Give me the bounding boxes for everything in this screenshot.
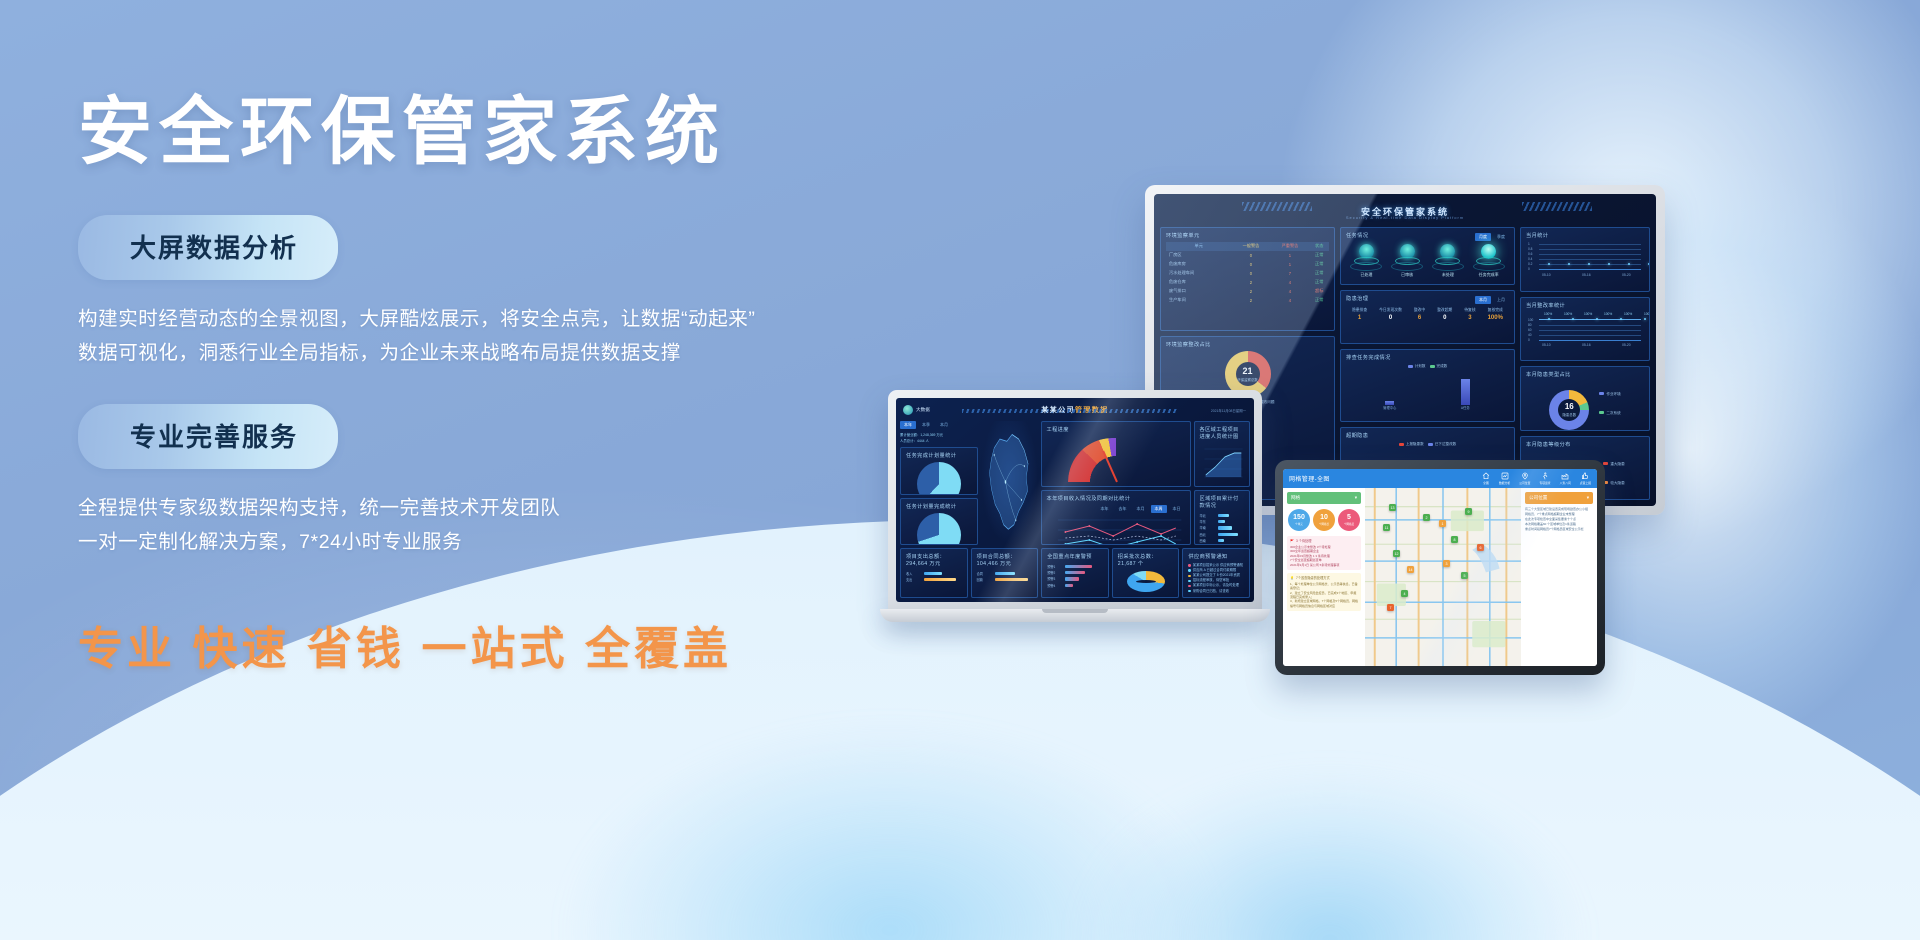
legend-label: 设备设施 <box>1606 430 1620 431</box>
legend-swatch <box>1428 443 1433 446</box>
cell-warn: 0 <box>1231 260 1270 269</box>
card-title: 工程进度 <box>1047 426 1069 433</box>
hazard-type-legend: 作业环境 二次系统 设备设施 <box>1599 381 1620 431</box>
laptop-col-right: 各区域工程项目进度人员统计图 <box>1194 421 1251 545</box>
card-title: 招采批次总数：21,687 个 <box>1118 553 1174 567</box>
bar-label: A任务 <box>1461 405 1470 410</box>
pie-chart <box>917 462 961 494</box>
legend-item: 已下达整改数 <box>1428 442 1457 447</box>
cell-severe: 1 <box>1270 251 1309 260</box>
donut-label: 环保监察总数 <box>1237 377 1257 382</box>
hbar-row: 预警4 <box>1047 582 1103 588</box>
tab-month[interactable]: 本月 <box>1133 505 1149 513</box>
card-progress-gauge: 工程进度 <box>1041 421 1191 487</box>
tab-this-month[interactable]: 本月 <box>1475 296 1491 304</box>
stat-value: 10 <box>1320 514 1328 521</box>
y-tick: 0 <box>1528 338 1530 342</box>
paragraph-2-line-2: 一对一定制化解决方案，7*24小时专业服务 <box>78 525 938 559</box>
tab-month[interactable]: 本月 <box>936 421 952 429</box>
card-title: 超期隐患 <box>1346 432 1509 439</box>
cell-status: 超标 <box>1309 287 1329 296</box>
toolbar-label: 全图 <box>1483 481 1489 485</box>
handling-note: 💡7个巡查隐患的处理方式 1、每个处理单位公示网格长、公示员等信息，已备案登记；… <box>1287 573 1361 611</box>
bulb-icon: 💡 <box>1290 576 1294 581</box>
donut-label: 隐患总数 <box>1563 412 1577 417</box>
legend-label: 二次系统 <box>1606 411 1620 415</box>
toolbar-label: 八查八问 <box>1560 481 1571 485</box>
x-tick: 05-20 <box>1622 273 1631 277</box>
legend-item: 上报隐患数 <box>1399 442 1424 447</box>
pending-note: 🚩3 个待处理 300企业公示未整改 3个待处理 300全年巡查超期企业 202… <box>1287 536 1361 570</box>
cell-severe: 4 <box>1270 296 1309 305</box>
map-pin[interactable]: 13 <box>1389 504 1396 511</box>
card-month-rate: 当月整改率统计 100% 100% 100% 100% 100% 100% 10… <box>1520 297 1650 362</box>
paragraph-2-line-1: 全程提供专家级数据架构支持，统一完善技术开发团队 <box>78 491 938 525</box>
cell-warn: 2 <box>1231 287 1270 296</box>
laptop-col-left: 本年 本季 本月 累计营业额：1,248,369 万元 人员总计：4444 人 … <box>900 421 978 545</box>
hbar-row: 支出 <box>906 576 962 582</box>
table-row: 危废仓库24正常 <box>1166 278 1329 287</box>
cell-severe: 1 <box>1270 260 1309 269</box>
card-title: 全国重点年度警预 <box>1047 553 1103 560</box>
map-pin[interactable]: 8 <box>1451 536 1458 543</box>
table-row: 危废库房01正常 <box>1166 260 1329 269</box>
card-title: 项目支出总额：294,664 万元 <box>906 553 962 567</box>
card-expense-total: 项目支出总额：294,664 万元 收入 支出 <box>900 548 968 598</box>
map-pin[interactable]: 11 <box>1383 524 1390 531</box>
th-unit: 单元 <box>1166 242 1231 251</box>
kpi-value: 0 <box>1437 315 1452 321</box>
laptop-tabs[interactable]: 本年 本季 本月 <box>900 421 978 429</box>
donut-value: 16 <box>1565 403 1574 411</box>
laptop-stats: 累计营业额：1,248,369 万元 人员总计：4444 人 <box>900 432 978 444</box>
bar-label: 管理中心 <box>1383 405 1396 410</box>
legend-item: 二次系统 <box>1599 401 1620 419</box>
point-label: 100% <box>1644 312 1650 316</box>
kpi: 隐患排查1 <box>1352 308 1367 321</box>
bar-plan <box>1461 379 1470 405</box>
card-task-plan-pie: 任务完成计划量统计 <box>900 447 978 494</box>
card-national-warning: 全国重点年度警预 预警1 预警2 预警3 预警4 <box>1041 548 1109 598</box>
card-title: 任务计划量完成统计 <box>906 503 972 510</box>
kpi-value: 100% <box>1488 315 1503 321</box>
plate-pending: 未处理 <box>1432 244 1464 278</box>
cell-name: 生产车间 <box>1166 296 1231 305</box>
point-label: 100% <box>1624 312 1632 316</box>
map-pin[interactable]: 7 <box>1387 604 1394 611</box>
dashboard-header: 安全环保管家系统 Security & Real-time Data Displ… <box>1160 200 1650 222</box>
kpi: 今日发现次数0 <box>1379 308 1402 321</box>
legend-label: 上报隐患数 <box>1406 442 1424 446</box>
kpi-value: 3 <box>1464 315 1475 321</box>
tab-week[interactable]: 本周 <box>1151 505 1167 513</box>
person-run-icon <box>1541 472 1549 480</box>
cell-severe: 7 <box>1270 269 1309 278</box>
location-icon <box>1521 472 1529 480</box>
info-line: 重点时间段网格员7个网格员区域安全公示栏 <box>1525 527 1593 532</box>
card-title: 各区域工程项目进度人员统计图 <box>1200 426 1245 440</box>
tab-quarter[interactable]: 本季 <box>918 421 934 429</box>
table-header-row: 单元 一般警告 严重警告 状态 <box>1166 242 1329 251</box>
note-line: 3、新增建立区域网格，7个网格及5个网格员，网格编号与网格员信息与网格区域对应 <box>1290 599 1358 608</box>
tab-lastyear[interactable]: 去年 <box>1115 505 1131 513</box>
stat-circle-units: 150 个单元 <box>1288 509 1310 531</box>
kpi: 复核完成100% <box>1488 308 1503 321</box>
kpi-label: 复核完成 <box>1488 308 1503 313</box>
tab-month[interactable]: 月度 <box>1475 233 1491 241</box>
legend-item: 设备设施 <box>1599 420 1620 431</box>
plate-label: 已处理 <box>1350 272 1382 278</box>
company-select[interactable]: 公司位置 ▾ <box>1525 492 1593 504</box>
completion-bar-chart: 管理中心 A任务 <box>1346 369 1509 405</box>
legend-label: 较大隐患 <box>1610 481 1624 485</box>
toolbar-factory[interactable]: 八查八问 <box>1560 472 1571 485</box>
table-row: 污水处理车间07正常 <box>1166 269 1329 278</box>
map-pin[interactable]: 4 <box>1401 590 1408 597</box>
legend-item: 重大隐患 <box>1603 452 1624 470</box>
note-line: 1、每个处理单位公示网格长、公示员等信息，已备案登记； <box>1290 582 1358 591</box>
point-label: 100% <box>1544 312 1552 316</box>
card-hazard-manage: 隐患治理 本月 上月 隐患排查1 今日发现次数0 整改中6 <box>1340 290 1515 344</box>
legend-label: 已下达整改数 <box>1435 442 1457 446</box>
laptop-lid: 大数据 某某公司管理数据 2021年11月08日星期一 本年 <box>888 390 1262 612</box>
map-pin[interactable]: 9 <box>1465 508 1472 515</box>
laptop-dashboard: 大数据 某某公司管理数据 2021年11月08日星期一 本年 <box>896 398 1254 602</box>
point-label: 100% <box>1564 312 1572 316</box>
banner-stage: 安全环保管家系统 大屏数据分析 构建实时经营动态的全景视图，大屏酷炫展示，将安全… <box>0 0 1920 940</box>
dashboard-subtitle: Security & Real-time Data Display Platfo… <box>1346 215 1464 220</box>
cell-status: 正常 <box>1309 251 1329 260</box>
stat-value: 150 <box>1293 514 1305 521</box>
cell-name: 危废库房 <box>1166 260 1231 269</box>
map-pin[interactable]: 3 <box>1443 560 1450 567</box>
flag-icon: 🚩 <box>1290 539 1294 544</box>
cell-status: 正常 <box>1309 260 1329 269</box>
badge-2-wrap: 专业完善服务 <box>78 404 938 469</box>
y-tick: 0.2 <box>1528 262 1532 266</box>
cell-severe: 4 <box>1270 287 1309 296</box>
cell-status: 正常 <box>1309 269 1329 278</box>
kpi-label: 隐患排查 <box>1352 308 1367 313</box>
plate-ring-outer <box>1350 262 1382 271</box>
toolbar-label: 数据分析 <box>1499 481 1510 485</box>
toolbar-location[interactable]: 公司位置 <box>1519 472 1530 485</box>
cell-warn: 2 <box>1231 296 1270 305</box>
card-title: 供应商预警通知 <box>1188 553 1244 560</box>
kpi-label: 今日发现次数 <box>1379 308 1402 313</box>
donut-center: 16 隐患总数 <box>1558 399 1580 421</box>
plate-processed: 已处理 <box>1350 244 1382 278</box>
note-line: 2021年9月1日 某公司 5条待处理事项 <box>1290 563 1358 567</box>
legend-item: 较大隐患 <box>1603 471 1624 489</box>
toolbar-label: 公司位置 <box>1519 481 1530 485</box>
overdue-legend: 上报隐患数 已下达整改数 <box>1346 442 1509 447</box>
month-stats-chart: 1 0.8 0.6 0.4 0.2 0 <box>1526 242 1644 276</box>
tablet-header: 网格管理-全图 全图 数据分析 <box>1283 469 1597 488</box>
cell-status: 正常 <box>1309 296 1329 305</box>
card-title: 当月整改率统计 <box>1526 302 1644 309</box>
select-value: 公司位置 <box>1529 495 1547 501</box>
cell-warn: 0 <box>1231 251 1270 260</box>
y-tick: 0.8 <box>1528 247 1532 251</box>
map-pin[interactable]: 12 <box>1393 550 1400 557</box>
factory-icon <box>1561 472 1569 480</box>
kpi: 整改中6 <box>1414 308 1425 321</box>
income-tabs[interactable]: 本年 去年 本月 本周 本日 <box>1047 505 1185 513</box>
table-row: 厂房区01正常 <box>1166 251 1329 260</box>
select-value: 网格 <box>1291 495 1300 501</box>
tablet-right-panel: 公司位置 ▾ 有三个大型区域已建设置完成现场勘查办公小组 网格员、7个重点网格超… <box>1521 488 1597 666</box>
card-area-payment: 区域项目累计付款情况 华北 华东 华南 西北 西南 东北 华中 <box>1194 490 1251 545</box>
stat-label: 个网格长 <box>1319 522 1329 526</box>
th-status: 状态 <box>1309 242 1329 251</box>
card-unit-table: 环境监察单元 单元 一般警告 严重警告 状态 厂房区01正常 <box>1160 227 1335 331</box>
laptop-notch <box>1042 609 1108 613</box>
donut-value: 21 <box>1242 367 1252 376</box>
toolbar-label: 点赞上报 <box>1580 481 1591 485</box>
legend-swatch <box>1430 365 1435 368</box>
y-tick: 40 <box>1528 333 1532 337</box>
card-title: 本年项目收入情况及同期对比统计 <box>1047 495 1131 502</box>
y-tick: 0.4 <box>1528 257 1532 261</box>
grid-map[interactable]: 13 2 11 1 9 8 6 12 14 3 5 4 7 <box>1365 488 1521 666</box>
page-title: 安全环保管家系统 <box>78 95 938 169</box>
badge-1-wrap: 大屏数据分析 <box>78 215 938 280</box>
gauge-arc <box>1068 438 1164 482</box>
payment-hbars: 华北 华东 华南 西北 西南 东北 华中 <box>1200 512 1245 545</box>
tab-year[interactable]: 本年 <box>900 421 916 429</box>
card-title: 本月隐患等级分布 <box>1526 441 1644 448</box>
x-tick: 05-10 <box>1542 273 1551 277</box>
note-title: 🚩3 个待处理 <box>1290 539 1358 544</box>
point-label: 100% <box>1584 312 1592 316</box>
right-info-lines: 有三个大型区域已建设置完成现场勘查办公小组 网格员、7个重点网格超期企业未整理 … <box>1525 507 1593 532</box>
cell-name: 废气排口 <box>1166 287 1231 296</box>
card-title: 环境监察单元 <box>1166 232 1329 239</box>
area-line-chart <box>1200 443 1245 487</box>
chart-icon <box>1501 472 1509 480</box>
card-area-progress: 各区域工程项目进度人员统计图 <box>1194 421 1251 487</box>
kpi: 待复核3 <box>1464 308 1475 321</box>
stat-label: 个单元 <box>1295 522 1303 526</box>
tasks-tabs[interactable]: 月度 季度 <box>1475 233 1509 241</box>
header-hatch-right <box>1522 202 1592 211</box>
table-row: 生产车间24正常 <box>1166 296 1329 305</box>
laptop-device: 大数据 某某公司管理数据 2021年11月08日星期一 本年 <box>880 390 1270 645</box>
card-task-complete-pie: 任务计划量完成统计 <box>900 498 978 545</box>
th-warn: 一般警告 <box>1231 242 1270 251</box>
cell-warn: 2 <box>1231 278 1270 287</box>
donut-center: 21 环保监察总数 <box>1236 362 1260 386</box>
kpi-value: 0 <box>1379 315 1402 321</box>
legend-item: 一般隐患 <box>1603 490 1624 501</box>
paragraph-2: 全程提供专家级数据架构支持，统一完善技术开发团队 一对一定制化解决方案，7*24… <box>78 491 938 559</box>
tablet-frame: 网格管理-全图 全图 数据分析 <box>1275 460 1605 675</box>
tab-day[interactable]: 本日 <box>1169 505 1185 513</box>
laptop-bottom-row: 项目支出总额：294,664 万元 收入 支出 项目合同总额：104,466 万… <box>900 548 1250 598</box>
card-hazard-type: 本月隐患类型占比 16 隐患总数 作业环 <box>1520 366 1650 431</box>
y-tick: 100 <box>1528 318 1533 322</box>
laptop-col-gauge: 工程进度 本年项目收入情况及同期对比统计 <box>1041 421 1191 545</box>
logo-label: 大数据 <box>916 407 930 413</box>
x-tick: 05-20 <box>1622 343 1631 347</box>
unit-table: 单元 一般警告 严重警告 状态 厂房区01正常 危废库房01正常 污水处理车间0… <box>1166 242 1329 305</box>
stat-value: 5 <box>1347 514 1351 521</box>
thumb-icon <box>1581 472 1589 480</box>
plate-ring-outer <box>1473 262 1505 271</box>
paragraph-1-line-1: 构建实时经营动态的全景视图，大屏酷炫展示，将安全点亮，让数据“动起来” <box>78 302 938 336</box>
toolbar-analysis[interactable]: 数据分析 <box>1499 472 1510 485</box>
tablet-screen: 网格管理-全图 全图 数据分析 <box>1283 469 1597 666</box>
card-title: 项目合同总额：104,466 万元 <box>977 553 1033 567</box>
cell-warn: 0 <box>1231 269 1270 278</box>
kpi: 整改超期0 <box>1437 308 1452 321</box>
x-tick: 05-16 <box>1582 343 1591 347</box>
legend-label: 完成数 <box>1437 364 1448 368</box>
card-title: 隐患治理 <box>1346 295 1368 302</box>
legend-label: 一般隐患 <box>1610 500 1624 501</box>
list-item: 采购合同已归档，请查收 <box>1188 589 1244 594</box>
map-pin[interactable]: 6 <box>1477 544 1484 551</box>
cell-status: 正常 <box>1309 278 1329 287</box>
legend-swatch <box>1399 443 1404 446</box>
y-tick: 1 <box>1528 242 1530 246</box>
device-mockups: 安全环保管家系统 Security & Real-time Data Displ… <box>880 150 1920 790</box>
chevron-down-icon: ▾ <box>1587 495 1589 501</box>
card-title: 本月隐患类型占比 <box>1526 371 1644 378</box>
stat-line: 人员总计：4444 人 <box>900 438 978 444</box>
map-pin[interactable]: 5 <box>1461 572 1468 579</box>
card-title: 环境监察整改占比 <box>1166 341 1329 348</box>
y-tick: 80 <box>1528 323 1532 327</box>
pie-chart <box>917 513 961 545</box>
hazard-tabs[interactable]: 本月 上月 <box>1475 296 1509 304</box>
chevron-down-icon: ▾ <box>1355 495 1357 501</box>
donut-chart <box>1127 571 1165 592</box>
cell-name: 污水处理车间 <box>1166 269 1231 278</box>
card-title: 排查任务完成情况 <box>1346 354 1509 361</box>
card-income-compare: 本年项目收入情况及同期对比统计 本年 去年 本月 本周 本日 <box>1041 490 1191 545</box>
plate-audited: 已审核 <box>1391 244 1423 278</box>
legend-label: 重大隐患 <box>1610 462 1624 466</box>
card-month-stats: 当月统计 1 0.8 0.6 0.4 0.2 0 <box>1520 227 1650 292</box>
map-pin[interactable]: 1 <box>1439 520 1446 527</box>
legend-item: 作业环境 <box>1599 382 1620 400</box>
stat-label: 个网格员 <box>1344 522 1354 526</box>
card-supplier-alerts: 供应商预警通知 某某项目招采公示 供应商预警通知 供应商 A 已超过合同付款期限… <box>1182 548 1250 598</box>
kpi-label: 整改超期 <box>1437 308 1452 313</box>
card-contract-total: 项目合同总额：104,466 万元 合同 回款 <box>971 548 1039 598</box>
hero-copy: 安全环保管家系统 大屏数据分析 构建实时经营动态的全景视图，大屏酷炫展示，将安全… <box>78 95 938 677</box>
tab-last-month[interactable]: 上月 <box>1493 296 1509 304</box>
grid-select[interactable]: 网格 ▾ <box>1287 492 1361 504</box>
tab-quarter[interactable]: 季度 <box>1493 233 1509 241</box>
income-line-chart <box>1047 514 1185 545</box>
plate-label: 未处理 <box>1432 272 1464 278</box>
tagline: 专业 快速 省钱 一站式 全覆盖 <box>78 612 938 677</box>
y-tick: 0 <box>1528 267 1530 271</box>
logo-icon <box>903 405 913 415</box>
map-pin[interactable]: 2 <box>1423 514 1430 521</box>
tasks-plates: 已处理 已审核 未处理 任务完成率 <box>1346 242 1509 278</box>
card-title: 任务情况 <box>1346 232 1368 239</box>
map-pin[interactable]: 14 <box>1407 566 1414 573</box>
laptop-header-date: 2021年11月08日星期一 <box>1211 408 1246 413</box>
card-title: 当月统计 <box>1526 232 1644 239</box>
card-title: 任务完成计划量统计 <box>906 452 972 459</box>
toolbar-label: 专项巡查 <box>1539 481 1550 485</box>
badge-professional-service: 专业完善服务 <box>78 404 338 469</box>
paragraph-1-line-2: 数据可视化，洞悉行业全局指标，为企业未来战略布局提供数据支撑 <box>78 336 938 370</box>
cell-severe: 4 <box>1270 278 1309 287</box>
header-hatch-left <box>1242 202 1312 211</box>
kpi-label: 待复核 <box>1464 308 1475 313</box>
hazard-kpis: 隐患排查1 今日发现次数0 整改中6 整改超期0 待复核3 复核完成100% <box>1346 308 1509 321</box>
toolbar-inspection[interactable]: 专项巡查 <box>1539 472 1550 485</box>
note-title: 💡7个巡查隐患的处理方式 <box>1290 576 1358 581</box>
legend-label: 计划数 <box>1415 364 1426 368</box>
stat-circles: 150 个单元 10 个网格长 5 个网格员 <box>1287 507 1361 533</box>
table-row: 废气排口24超标 <box>1166 287 1329 296</box>
tablet-body: 网格 ▾ 150 个单元 10 个网格长 <box>1283 488 1597 666</box>
plate-completion-rate: 任务完成率 <box>1473 244 1505 278</box>
badge-data-analysis: 大屏数据分析 <box>78 215 338 280</box>
hbar-row: 东北 <box>1200 544 1245 545</box>
toolbar-report[interactable]: 点赞上报 <box>1580 472 1591 485</box>
stat-circle-leaders: 10 个网格长 <box>1313 509 1335 531</box>
y-tick: 60 <box>1528 328 1532 332</box>
paragraph-1: 构建实时经营动态的全景视图，大屏酷炫展示，将安全点亮，让数据“动起来” 数据可视… <box>78 302 938 370</box>
hazard-level-legend: 重大隐患 较大隐患 一般隐患 低风险 <box>1603 451 1624 501</box>
card-task-completion: 排查任务完成情况 计划数 完成数 管理中心 <box>1340 349 1515 422</box>
stat-circle-members: 5 个网格员 <box>1338 509 1360 531</box>
card-tasks: 任务情况 月度 季度 已处理 已审核 未处理 <box>1340 227 1515 285</box>
kpi-label: 整改中 <box>1414 308 1425 313</box>
point-label: 100% <box>1604 312 1612 316</box>
legend-swatch <box>1408 365 1413 368</box>
legend-label: 作业环境 <box>1606 392 1620 396</box>
plate-ring-outer <box>1391 262 1423 271</box>
hbar-row: 回款 <box>977 576 1033 582</box>
home-icon <box>1482 472 1490 480</box>
kpi-value: 6 <box>1414 315 1425 321</box>
gauge-chart <box>1068 438 1164 482</box>
laptop-header: 大数据 某某公司管理数据 2021年11月08日星期一 <box>900 402 1250 418</box>
tablet-toolbar[interactable]: 全图 数据分析 公司位置 <box>1482 472 1591 485</box>
th-severe: 严重警告 <box>1270 242 1309 251</box>
tab-year[interactable]: 本年 <box>1097 505 1113 513</box>
card-title: 区域项目累计付款情况 <box>1200 495 1245 509</box>
china-map <box>981 421 1038 545</box>
tablet-left-panel: 网格 ▾ 150 个单元 10 个网格长 <box>1283 488 1365 666</box>
hazard-type-donut: 16 隐患总数 <box>1549 390 1589 430</box>
plate-label: 任务完成率 <box>1473 272 1505 278</box>
month-rate-chart: 100% 100% 100% 100% 100% 100% 100% 100 8… <box>1526 312 1644 346</box>
tablet-device: 网格管理-全图 全图 数据分析 <box>1275 460 1605 675</box>
laptop-screen: 大数据 某某公司管理数据 2021年11月08日星期一 本年 <box>896 398 1254 602</box>
plate-ring-outer <box>1432 262 1464 271</box>
toolbar-home[interactable]: 全图 <box>1482 472 1490 485</box>
plate-label: 已审核 <box>1391 272 1423 278</box>
x-tick: 05-10 <box>1542 343 1551 347</box>
cell-name: 厂房区 <box>1166 251 1231 260</box>
cell-name: 危废仓库 <box>1166 278 1231 287</box>
kpi-value: 1 <box>1352 315 1367 321</box>
x-tick: 05-16 <box>1582 273 1591 277</box>
card-procurement-donut: 招采批次总数：21,687 个 <box>1112 548 1180 598</box>
tablet-title: 网格管理-全图 <box>1289 474 1330 483</box>
y-tick: 0.6 <box>1528 252 1532 256</box>
